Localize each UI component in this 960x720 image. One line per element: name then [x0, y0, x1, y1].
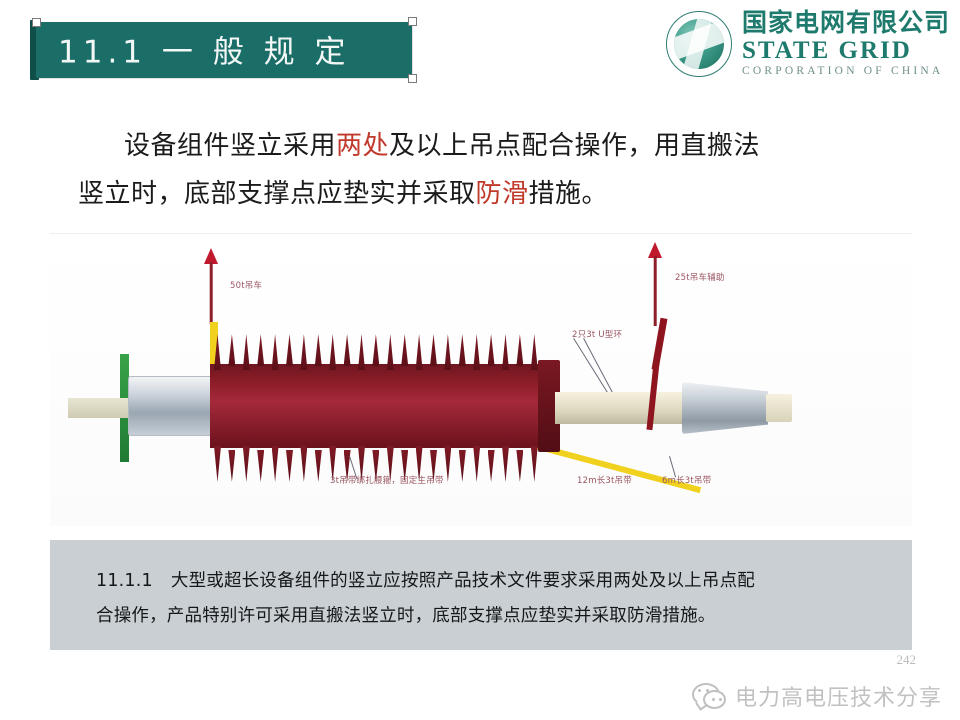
body-line1-part-a: 设备组件竖立采用 — [124, 131, 336, 161]
insulator-shed — [444, 446, 451, 482]
insulator-shed — [272, 334, 279, 370]
resize-handle-top-left[interactable] — [32, 18, 41, 27]
resize-handle-bottom-right[interactable] — [408, 74, 417, 83]
insulator-shed — [459, 450, 466, 482]
label-waist-strap: 3t吊带绑扎腰箍，固定主吊带 — [330, 474, 444, 486]
body-line2-part-b: 措施。 — [529, 179, 609, 209]
label-u-shackle: 2只3t U型环 — [572, 328, 622, 340]
insulator-shed — [401, 334, 408, 366]
label-main-crane: 50t吊车 — [230, 279, 262, 291]
body-line2-part-a: 竖立时，底部支撑点应垫实并采取 — [78, 179, 476, 209]
insulator-shed — [531, 446, 538, 482]
watermark-text: 电力高电压技术分享 — [735, 680, 942, 712]
clause-line1: 大型或超长设备组件的竖立应按照产品技术文件要求采用两处及以上吊点配 — [171, 571, 755, 591]
insulator-shed — [315, 450, 322, 482]
logo-company-en: STATE GRID — [742, 38, 950, 63]
label-sling-6m: 6m长3t吊带 — [662, 474, 711, 486]
wechat-watermark: 电力高电压技术分享 — [692, 680, 942, 712]
title-bar-background: 11.1 一 般 规 定 — [36, 22, 412, 78]
insulator-shed — [358, 334, 365, 370]
state-grid-logo: 国家电网有限公司 STATE GRID CORPORATION OF CHINA — [666, 8, 950, 80]
resize-handle-top-right[interactable] — [408, 17, 417, 26]
logo-text-block: 国家电网有限公司 STATE GRID CORPORATION OF CHINA — [742, 10, 950, 78]
metal-end-fitting-left — [128, 376, 222, 436]
insulator-shed — [416, 334, 423, 370]
body-paragraph: 设备组件竖立采用两处及以上吊点配合操作，用直搬法 竖立时，底部支撑点应垫实并采取… — [78, 122, 898, 218]
insulator-shed — [344, 334, 351, 366]
insulator-shed — [300, 334, 307, 370]
page-number: 242 — [897, 652, 917, 668]
insulator-shed — [516, 450, 523, 482]
label-sling-12m: 12m长3t吊带 — [577, 474, 632, 486]
insulator-shed — [444, 334, 451, 370]
insulator-shed — [300, 446, 307, 482]
insulator-shed — [430, 334, 437, 366]
insulator-shed — [214, 334, 221, 370]
clause-number: 11.1.1 — [96, 571, 153, 591]
insulator-shed — [272, 446, 279, 482]
insulator-shed — [473, 334, 480, 370]
aux-crane-arrow — [646, 242, 664, 326]
insulator-shed — [502, 334, 509, 370]
slide-title-banner: 11.1 一 般 规 定 — [30, 22, 412, 78]
cone-tip — [766, 394, 792, 422]
lifting-diagram-figure: 50t吊车 25t吊车辅助 2只3t U型环 — [50, 233, 912, 526]
logo-company-cn: 国家电网有限公司 — [742, 10, 950, 35]
insulator-shed — [516, 334, 523, 366]
insulator-shed — [502, 446, 509, 482]
equipment-rod-right — [555, 392, 687, 424]
clause-line2: 合操作，产品特别许可采用直搬法竖立时，底部支撑点应垫实并采取防滑措施。 — [96, 606, 716, 626]
conical-end-fitting — [682, 382, 768, 434]
insulator-shed — [329, 334, 336, 370]
insulator-shed — [459, 334, 466, 366]
insulator-shed — [531, 334, 538, 370]
wechat-icon — [692, 683, 726, 709]
leader-u-shackle-a — [573, 338, 612, 400]
page-title: 11.1 一 般 规 定 — [58, 27, 350, 72]
insulator-shed — [228, 450, 235, 482]
clause-note-text: 11.1.1大型或超长设备组件的竖立应按照产品技术文件要求采用两处及以上吊点配 … — [96, 564, 886, 634]
body-highlight-fanghua: 防滑 — [476, 179, 529, 209]
insulator-shed — [473, 446, 480, 482]
insulator-shed — [243, 446, 250, 482]
insulator-shed — [315, 334, 322, 366]
label-aux-crane: 25t吊车辅助 — [675, 271, 725, 283]
clause-note-box: 11.1.1大型或超长设备组件的竖立应按照产品技术文件要求采用两处及以上吊点配 … — [50, 540, 912, 650]
insulator-sheds — [210, 334, 550, 482]
main-crane-arrow — [202, 248, 220, 324]
body-line1-part-b: 及以上吊点配合操作，用直搬法 — [389, 131, 760, 161]
insulator-shed — [228, 334, 235, 366]
insulator-shed — [286, 334, 293, 366]
insulator-shed — [257, 334, 264, 366]
insulator-shed — [387, 334, 394, 370]
insulator-shed — [243, 334, 250, 370]
insulator-shed — [488, 334, 495, 366]
logo-company-sub: CORPORATION OF CHINA — [742, 66, 950, 78]
state-grid-globe-icon — [666, 11, 732, 77]
insulator-shed — [372, 334, 379, 366]
slide-canvas: 11.1 一 般 规 定 国家电网有限公司 STATE GRID CORPORA… — [0, 0, 960, 720]
insulator-shed — [488, 450, 495, 482]
insulator-shed — [257, 450, 264, 482]
insulator-shed — [286, 450, 293, 482]
insulator-shed — [214, 446, 221, 482]
body-highlight-liangchu: 两处 — [336, 131, 389, 161]
